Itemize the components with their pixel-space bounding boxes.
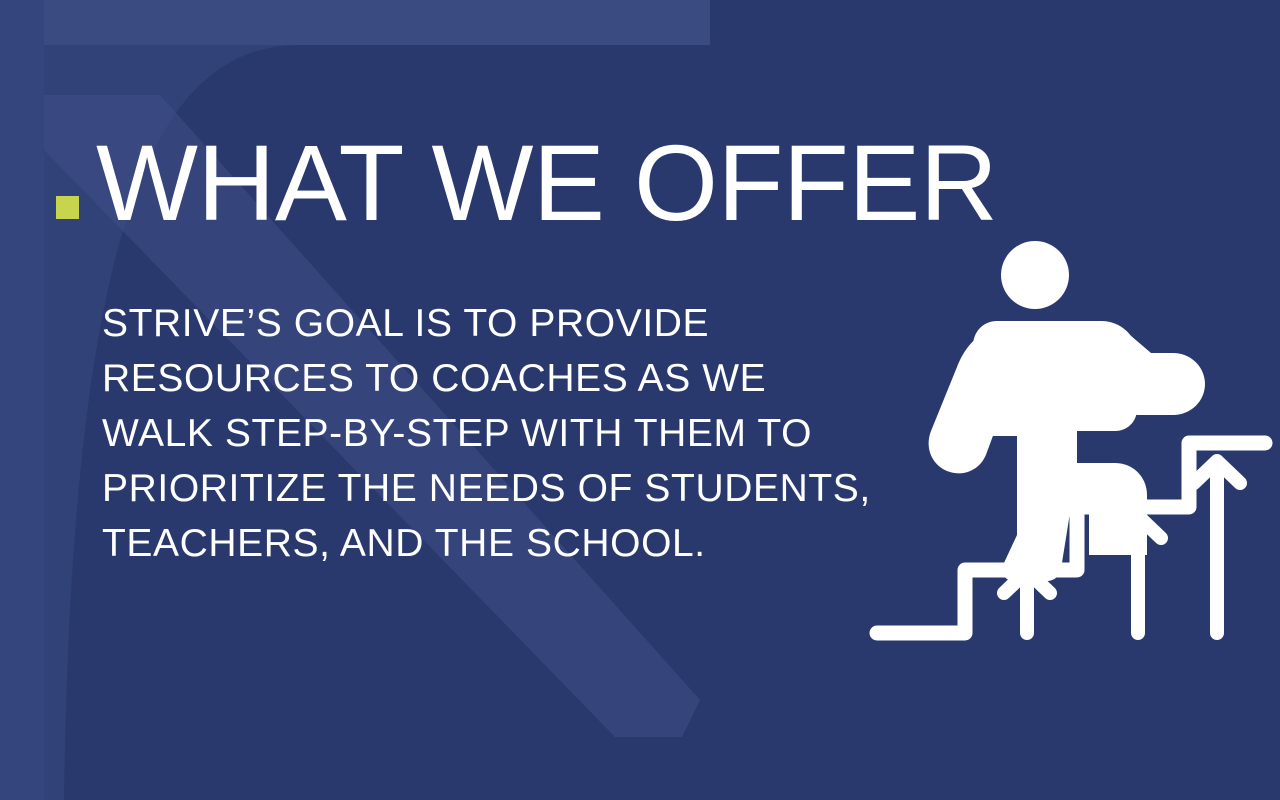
arrow-up-medium [1115, 516, 1161, 633]
arrow-up-tall [1194, 461, 1240, 633]
body-line: PRIORITIZE THE NEEDS OF STUDENTS, [102, 461, 902, 516]
page-title: WHAT WE OFFER [96, 126, 997, 239]
arrow-up-short [1004, 571, 1050, 633]
slide-content: WHAT WE OFFER STRIVE’S GOAL IS TO PROVID… [0, 0, 1280, 800]
body-line: TEACHERS, AND THE SCHOOL. [102, 516, 902, 571]
body-line: WALK STEP-BY-STEP WITH THEM TO [102, 406, 902, 461]
slide: WHAT WE OFFER STRIVE’S GOAL IS TO PROVID… [0, 0, 1280, 800]
title-bullet-square [56, 196, 79, 219]
body-line: STRIVE’S GOAL IS TO PROVIDE [102, 296, 902, 351]
figure-group [929, 241, 1205, 581]
figure-left-arm [929, 331, 1015, 473]
person-climbing-stairs-icon [865, 235, 1275, 645]
person-climbing-stairs-svg [865, 235, 1275, 645]
figure-head [1001, 241, 1069, 309]
body-line: RESOURCES TO COACHES AS WE [102, 351, 902, 406]
body-text-block: STRIVE’S GOAL IS TO PROVIDE RESOURCES TO… [102, 296, 902, 571]
